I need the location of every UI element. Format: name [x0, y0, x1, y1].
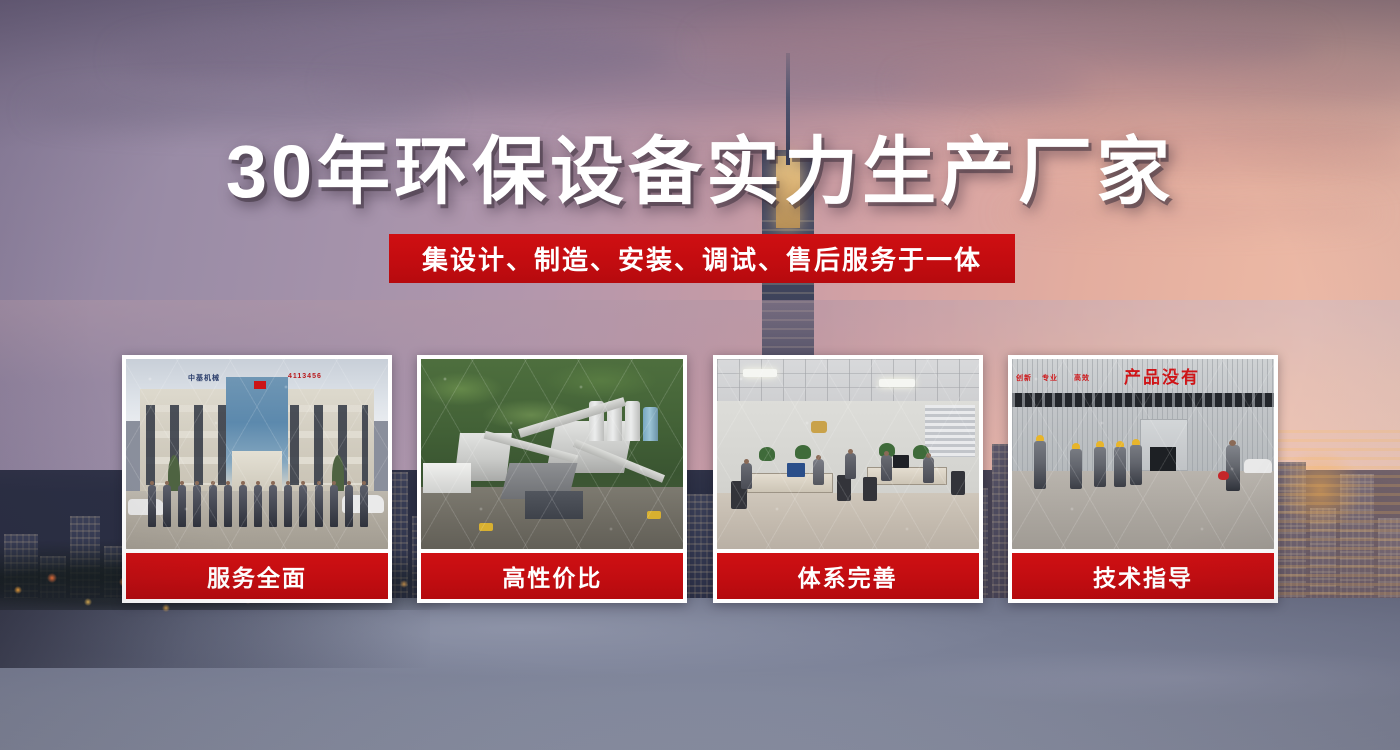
red-helmet-icon: [1218, 471, 1229, 480]
feature-card-caption: 技术指导: [1012, 553, 1274, 599]
company-headquarters-photo: 中基机械 4113456: [126, 359, 388, 549]
flag-icon: [254, 381, 266, 389]
feature-card-caption-text: 体系完善: [798, 559, 898, 593]
sky-top-shade: [0, 0, 1400, 150]
feature-card-caption: 高性价比: [421, 553, 683, 599]
wall-art: [805, 411, 833, 435]
feature-card-caption: 服务全面: [126, 553, 388, 599]
banner-stage: 30年环保设备实力生产厂家 集设计、制造、安装、调试、售后服务于一体 中基机械 …: [0, 0, 1400, 750]
building-sign-phone: 4113456: [288, 373, 322, 380]
factory-slogan: 专业: [1042, 373, 1058, 383]
subtitle-text: 集设计、制造、安装、调试、售后服务于一体: [422, 240, 982, 277]
feature-card[interactable]: 产品没有 创新 专业 高效 技术指导: [1008, 355, 1278, 603]
feature-card-row: 中基机械 4113456 服务全面: [122, 355, 1278, 603]
page-title: 30年环保设备实力生产厂家: [0, 133, 1400, 211]
production-plant-aerial-photo: [421, 359, 683, 549]
feature-card[interactable]: 中基机械 4113456 服务全面: [122, 355, 392, 603]
factory-slogan: 创新: [1016, 373, 1032, 383]
feature-card[interactable]: 高性价比: [417, 355, 687, 603]
feature-card-caption-text: 服务全面: [207, 559, 307, 593]
subtitle-banner: 集设计、制造、安装、调试、售后服务于一体: [389, 234, 1015, 283]
factory-wall-sign: 产品没有: [1124, 363, 1200, 388]
building-sign-logo: 中基机械: [188, 373, 220, 383]
feature-card-caption: 体系完善: [717, 553, 979, 599]
feature-card-caption-text: 高性价比: [502, 559, 602, 593]
feature-card[interactable]: 体系完善: [713, 355, 983, 603]
factory-slogan: 高效: [1074, 373, 1090, 383]
workers-training-photo: 产品没有 创新 专业 高效: [1012, 359, 1274, 549]
office-interior-photo: [717, 359, 979, 549]
feature-card-caption-text: 技术指导: [1093, 559, 1193, 593]
